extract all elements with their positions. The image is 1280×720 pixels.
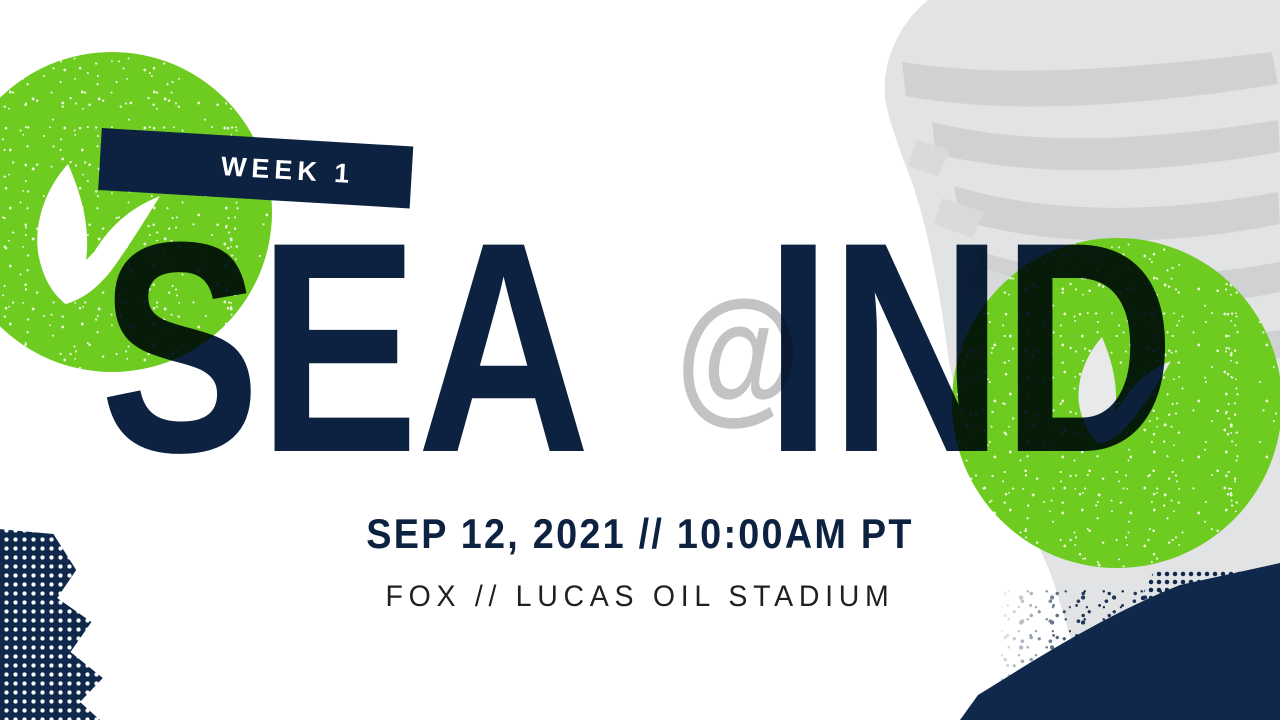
- date-time-line: SEP 12, 2021 // 10:00AM PT: [64, 510, 1216, 558]
- away-team-abbr: SEA: [100, 230, 589, 464]
- home-team-abbr: IND: [765, 230, 1174, 464]
- matchup-graphic: WEEK 1 SEA @ IND SEP 12, 2021 // 10:00AM…: [0, 0, 1280, 720]
- matchup-line: SEA @ IND: [96, 192, 896, 502]
- broadcast-venue-line: FOX // LUCAS OIL STADIUM: [32, 580, 1248, 614]
